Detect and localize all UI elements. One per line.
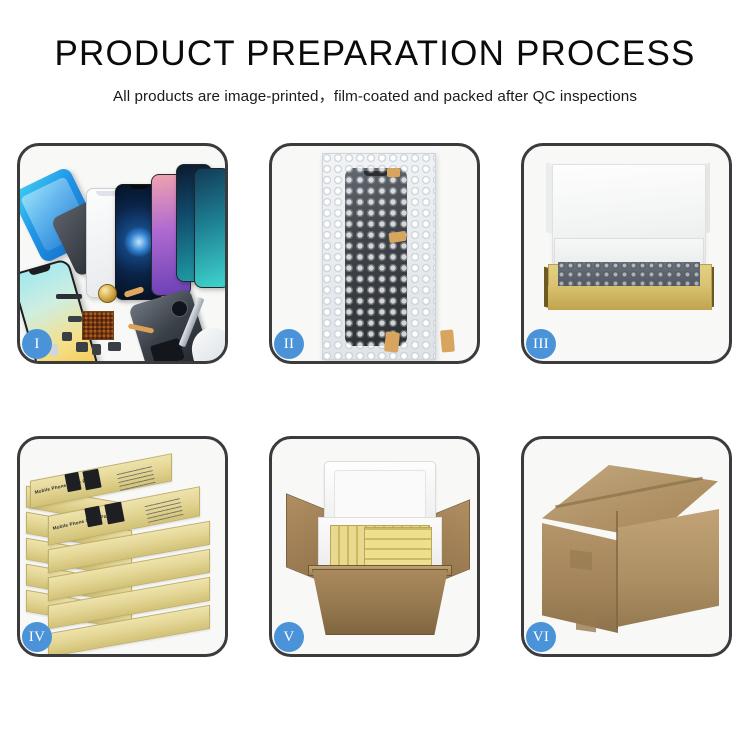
carton-tab-1-icon	[570, 549, 592, 570]
process-step-panel-2: II	[269, 143, 480, 364]
step-badge-5: V	[274, 622, 304, 652]
process-step-panel-3: III	[521, 143, 732, 364]
step-badge-3: III	[526, 329, 556, 359]
tape-piece-1-icon	[387, 168, 400, 177]
process-step-panel-5: V	[269, 436, 480, 657]
carton-tab-2-icon	[576, 614, 596, 633]
product-preparation-process-infographic: PRODUCT PREPARATION PROCESS All products…	[0, 0, 750, 750]
page-title: PRODUCT PREPARATION PROCESS	[0, 36, 750, 73]
step-badge-6: VI	[526, 622, 556, 652]
bubble-wrap-sheet-icon	[322, 153, 436, 360]
carton-right-face-icon	[617, 509, 719, 627]
packed-yellow-boxes-2-icon	[364, 527, 432, 569]
speaker-coil-icon	[98, 284, 117, 303]
step-badge-2: II	[274, 329, 304, 359]
process-step-panel-1: I	[17, 143, 228, 364]
tape-piece-4-icon	[440, 329, 455, 352]
phone-notch-icon	[131, 185, 148, 189]
box-swatch-2b-icon	[104, 502, 125, 525]
wallpaper-burst-icon	[124, 227, 154, 257]
box-swatch-1b-icon	[82, 469, 101, 491]
step-badge-4: IV	[22, 622, 52, 652]
camera-lens-icon	[169, 298, 190, 319]
page-subtitle: All products are image-printed，film-coat…	[0, 84, 750, 106]
process-step-grid: I II	[17, 143, 733, 657]
kraft-box-side-icon	[548, 286, 710, 310]
small-part-1-icon	[62, 332, 72, 341]
phone-screen-teal-2-icon	[194, 168, 225, 288]
small-part-2-icon	[76, 342, 88, 352]
step-badge-1: I	[22, 329, 52, 359]
carton-body-icon	[312, 569, 448, 635]
small-part-4-icon	[108, 342, 121, 351]
step-3-illustration	[524, 146, 729, 361]
step-5-illustration	[272, 439, 477, 654]
header: PRODUCT PREPARATION PROCESS All products…	[0, 0, 750, 106]
small-part-6-icon	[68, 316, 82, 322]
bubble-overlay-icon	[323, 154, 435, 359]
step-4-illustration: Mobile Phone Spare Parts Mobile Phone Sp…	[20, 439, 225, 654]
step-6-illustration	[524, 439, 729, 654]
step-2-illustration	[272, 146, 477, 361]
screw-grid-icon	[82, 311, 114, 340]
earpiece-bar-icon	[56, 294, 82, 299]
process-step-panel-4: Mobile Phone Spare Parts Mobile Phone Sp…	[17, 436, 228, 657]
carton-vertical-edge-icon	[616, 511, 618, 629]
step-1-illustration	[20, 146, 225, 361]
tape-piece-3-icon	[384, 331, 400, 352]
small-part-3-icon	[92, 344, 101, 355]
process-step-panel-6: VI	[521, 436, 732, 657]
